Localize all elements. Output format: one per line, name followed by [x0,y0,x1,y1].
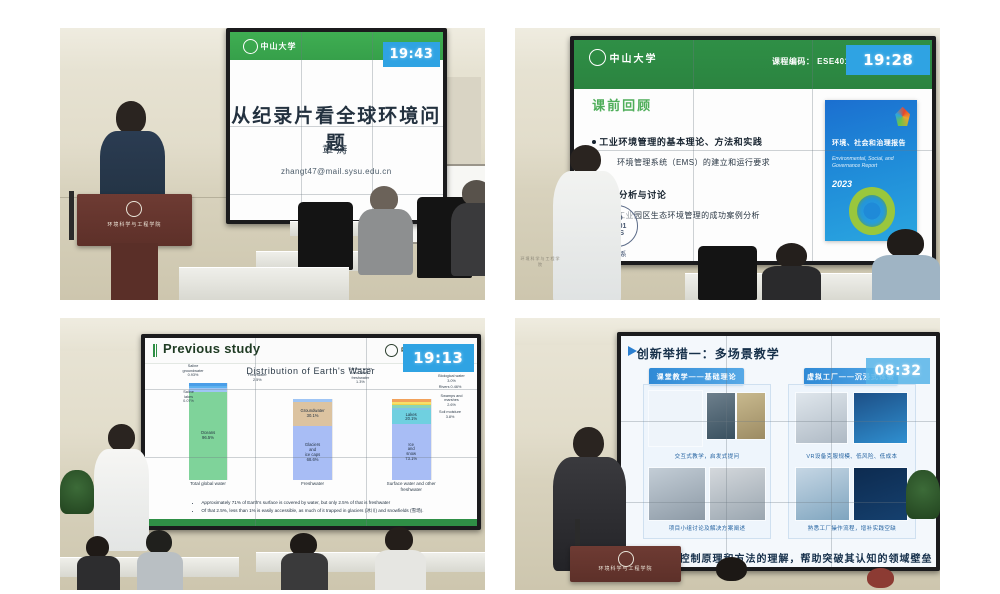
lecturer-head [108,424,135,451]
attendee-torso [872,255,940,300]
lecturer-torso [553,171,621,300]
attendee-torso [137,552,184,590]
university-seal-icon [243,39,258,54]
callout-soil-moisture: Soil moisture3.8% [431,410,470,419]
attendee [137,530,184,590]
clock-overlay: 19:13 [403,344,474,371]
display-wall: 创新举措一：多场景教学 课堂教学——基础理论 虚拟工厂——沉浸式体验 交互式教学… [617,332,940,571]
stacked-bar: Lakes20.1% Iceandsnow73.1% [392,399,431,480]
attendee-head [146,530,172,554]
attendee-head [887,229,924,257]
slide-notes: Approximately 71% of Earth's surface is … [161,500,466,516]
screen-tile-seam-h [621,502,936,503]
panel-2-top-right[interactable]: 中山大学 课程编码： ESE401 课前回顾 工业环境管理的基本理论、方法和实践… [515,28,940,300]
lectern[interactable]: 环境科学与工程学院 [570,546,681,581]
photo-thumbnail [710,468,765,520]
front-desk [179,267,349,300]
screen-tile-seam-v [366,338,367,526]
bullet-2-sub: 工业园区生态环境管理的成功案例分析 [617,210,760,221]
display-wall: Previous study 中山大学 Distribution of Eart… [141,334,481,530]
caption-right-bottom-text: 熟悉工厂操作流程，增补实践空缺 [808,526,897,532]
column-label: Freshwater [280,481,346,487]
slide-page-number: 11 [925,556,930,562]
segment-groundwater: Groundwater30.1% [293,402,332,426]
course-code: 课程编码： ESE401 [772,56,850,67]
screen-tile-seam-v [255,338,256,526]
diagram-thumbnail [649,391,702,446]
potted-plant [60,470,94,514]
course-code-value: ESE401 [817,57,849,66]
potted-plant [906,470,940,519]
lecturer-head [573,427,603,460]
photo-collage: 中山大学 从纪录片看全球环境问题 章涛 zhangt47@mail.sysu.e… [0,0,1000,594]
left-content-column: 交互式教学，启发式提问 项目小组讨论及解决方案阐述 [643,384,771,539]
esg-wreath-graphic [849,187,895,235]
note-2: Of that 2.5%, less than 1% is easily acc… [201,508,466,515]
slide-footer-bar [145,519,477,527]
presenter-email: zhangt47@mail.sysu.edu.cn [230,167,443,176]
attendee [872,229,940,300]
photo-thumbnail [649,468,704,520]
segment-ice-and-snow: Iceandsnow73.1% [392,424,431,480]
callout-swamps-marshes: Swamps andmarshes2.6% [431,394,473,408]
attendee-head [385,527,414,552]
attendee [358,186,413,273]
lecturer [94,424,149,546]
attendee [375,527,426,590]
callout-saline-groundwater: Salinegroundwater0.93% [171,364,216,378]
panel-4-bottom-right[interactable]: 创新举措一：多场景教学 课堂教学——基础理论 虚拟工厂——沉浸式体验 交互式教学… [515,318,940,590]
photo-thumbnail [796,468,849,520]
audience-chair [698,246,758,300]
attendee-head [86,536,110,559]
screen-tile-seam-h [230,126,443,127]
clock-time: 19:13 [413,349,463,367]
screen-tile-seam-h [145,457,477,458]
caption-right-top-text: VR设备克服规模、低风险、低成本 [806,454,897,460]
callout-surface-water-other: Surface waterand otherfreshwater1.3% [335,367,386,385]
segment-label: Groundwater30.1% [300,409,324,419]
audience-chair [298,202,353,270]
attendee-torso [77,556,120,590]
photo-thumbnail [737,393,765,439]
attendee-head [867,568,894,588]
lecturer [553,145,621,300]
esg-year: 2023 [832,179,852,189]
university-logo: 中山大学 [243,36,297,57]
university-logo: 中山大学 [589,49,658,66]
callout-biological-water: Biological water3.0% [431,374,473,383]
segment-label: Lakes20.1% [405,413,417,423]
segment-label: Oceans96.5% [201,431,215,441]
column-label: Surface water and other freshwater [378,481,444,492]
esg-title-en: Environmental, Social, and Governance Re… [832,156,912,170]
clock-overlay: 08:32 [866,358,931,384]
caption-left-top: 交互式教学，启发式提问 [644,452,770,460]
slide-title: 创新举措一：多场景教学 [637,345,780,362]
photo-thumbnail [707,393,735,439]
attendee-head [776,243,807,268]
note-2-text: Of that 2.5%, less than 1% is easily acc… [201,508,423,513]
microphone-stand [69,191,74,240]
lectern-base [111,243,158,300]
ribbon-left-label: 课堂教学——基础理论 [657,372,737,382]
caption-right-bottom: 熟悉工厂操作流程，增补实践空缺 [789,524,915,532]
note-1-text: Approximately 71% of Earth's surface is … [201,500,390,505]
screen-tile-seam-h [574,150,932,151]
caption-right-top: VR设备克服规模、低风险、低成本 [789,452,915,460]
attendee-head [462,180,485,206]
attendee-torso [375,550,426,590]
photo-thumbnail [854,468,907,520]
screen-tile-seam-h [621,421,936,422]
university-logo-text: 中山大学 [261,41,297,52]
clock-time: 19:43 [389,47,433,62]
lectern-seal-icon [126,201,142,217]
attendee [451,180,485,272]
title-arrow-icon [628,346,637,356]
slide-title: Previous study [163,341,260,356]
screen-tile-seam-v [726,336,727,567]
university-logo-text: 中山大学 [610,50,658,65]
clock-time: 19:28 [863,51,913,69]
note-1: Approximately 71% of Earth's surface is … [201,500,466,507]
photo-thumbnail [854,393,907,443]
course-code-label: 课程编码： [772,57,815,66]
caption-left-bottom-text: 项目小组讨论及解决方案阐述 [669,526,746,532]
bullet-1-title: 工业环境管理的基本理论、方法和实践 [599,135,762,148]
presenter-name: 章涛 [230,141,443,157]
screen-tile-seam-h [145,389,477,390]
segment-glaciers-ice-caps: Glaciersandice caps68.6% [293,426,332,480]
attendee-torso [762,266,822,300]
segment-oceans: Oceans96.5% [189,392,228,480]
attendee [855,568,906,590]
esg-flag-icon [895,107,910,127]
university-seal-icon [385,344,398,357]
lecturer-head [116,101,146,134]
panel-1-top-left[interactable]: 中山大学 从纪录片看全球环境问题 章涛 zhangt47@mail.sysu.e… [60,28,485,300]
chart-column-freshwater: Groundwater30.1% Glaciersandice caps68.6… [293,399,332,480]
screen-tile-seam-v [831,336,832,567]
lecturer [553,427,625,563]
esg-report-cover: 环境、社会和治理报告 Environmental, Social, and Go… [825,100,918,241]
attendee-head [290,533,316,556]
caption-left-top-text: 交互式教学，启发式提问 [675,454,740,460]
segment-label: Iceandsnow73.1% [405,443,417,462]
chart-column-surface-water: Lakes20.1% Iceandsnow73.1% Surface water… [392,399,431,480]
lectern-label-side: 环境科学与工程学院 [519,256,562,268]
panel-3-bottom-left[interactable]: Previous study 中山大学 Distribution of Eart… [60,318,485,590]
clock-overlay: 19:43 [383,42,440,67]
water-distribution-chart: Oceans96.5% Total global water Salinegro… [165,383,464,496]
attendee-torso [281,553,328,590]
segment-label: Glaciersandice caps68.6% [305,443,320,462]
attendee [762,243,822,300]
attendee [77,536,120,590]
attendee-torso [451,203,485,275]
lecturer-head [570,145,601,174]
lectern[interactable]: 环境科学与工程学院 [77,194,192,246]
esg-title-cn: 环境、社会和治理报告 [832,138,912,148]
university-seal-icon [589,49,606,66]
attendee-head [716,557,747,580]
attendee [702,557,762,590]
lectern-label: 环境科学与工程学院 [570,565,681,572]
attendee-head [370,186,399,212]
caption-left-bottom: 项目小组讨论及解决方案阐述 [644,524,770,532]
stacked-bar: Groundwater30.1% Glaciersandice caps68.6… [293,399,332,480]
attendee-torso [358,209,413,275]
attendee [281,533,328,590]
column-label: Total global water [175,481,241,487]
clock-time: 08:32 [874,363,921,379]
segment-lakes: Lakes20.1% [392,410,431,424]
title-accent-bars [153,344,157,357]
right-content-column: VR设备克服规模、低风险、低成本 熟悉工厂操作流程，增补实践空缺 [788,384,916,539]
lectern-label: 环境科学与工程学院 [77,221,192,228]
display-wall: 中山大学 从纪录片看全球环境问题 章涛 zhangt47@mail.sysu.e… [226,28,447,224]
slide-heading: 课前回顾 [592,95,652,114]
callout-saline-lakes: Salinelakes0.07% [168,390,210,404]
clock-overlay: 19:28 [846,45,930,75]
bullet-icon [592,140,596,144]
photo-thumbnail [796,393,846,443]
callout-freshwater: Freshwater2.5% [236,373,278,382]
